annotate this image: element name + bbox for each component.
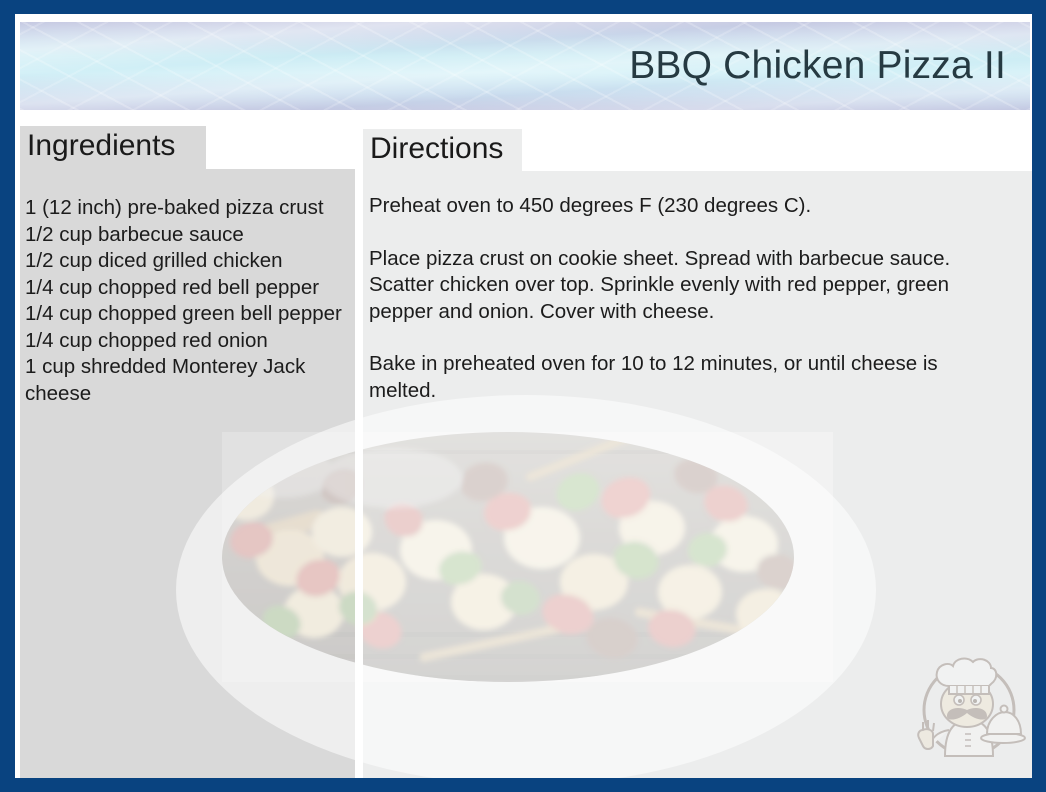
direction-step: Preheat oven to 450 degrees F (230 degre… (369, 193, 994, 220)
tab-directions-label: Directions (370, 132, 503, 165)
frame-border-bottom (0, 778, 1046, 792)
directions-panel: Preheat oven to 450 degrees F (230 degre… (363, 171, 1032, 778)
frame-border-top (0, 0, 1046, 14)
column-gutter (355, 126, 363, 778)
frame-border-right (1032, 0, 1046, 792)
ingredient-item: 1/4 cup chopped green bell pepper (25, 301, 350, 328)
ingredient-item: 1 (12 inch) pre-baked pizza crust (25, 195, 350, 222)
header-banner: BBQ Chicken Pizza II (20, 22, 1030, 110)
ingredients-panel: 1 (12 inch) pre-baked pizza crust1/2 cup… (20, 169, 355, 778)
direction-step: Place pizza crust on cookie sheet. Sprea… (369, 246, 994, 326)
ingredient-item: 1/2 cup barbecue sauce (25, 222, 350, 249)
ingredients-list: 1 (12 inch) pre-baked pizza crust1/2 cup… (25, 195, 350, 407)
ingredient-item: 1/2 cup diced grilled chicken (25, 248, 350, 275)
ingredient-item: 1/4 cup chopped red onion (25, 328, 350, 355)
ingredient-item: 1 cup shredded Monterey Jack cheese (25, 354, 350, 407)
recipe-slide: BBQ Chicken Pizza II Ingredients 1 (12 i… (0, 0, 1046, 792)
ingredient-item: 1/4 cup chopped red bell pepper (25, 275, 350, 302)
tab-ingredients[interactable]: Ingredients (20, 126, 206, 169)
frame-border-left (0, 0, 15, 792)
directions-list: Preheat oven to 450 degrees F (230 degre… (369, 193, 994, 404)
page-title: BBQ Chicken Pizza II (629, 44, 1006, 88)
tab-directions[interactable]: Directions (363, 129, 522, 171)
tab-ingredients-label: Ingredients (27, 129, 175, 162)
direction-step: Bake in preheated oven for 10 to 12 minu… (369, 351, 994, 404)
